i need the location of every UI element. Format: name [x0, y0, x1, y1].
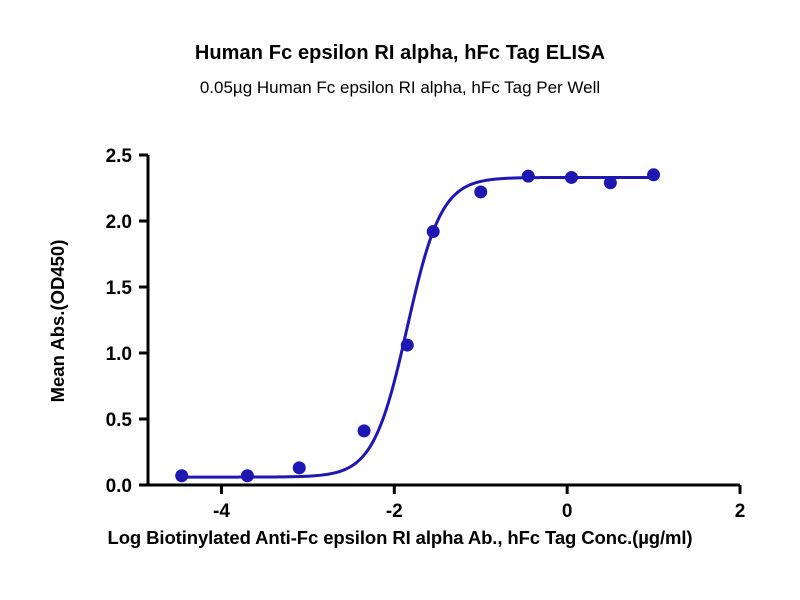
svg-text:2.0: 2.0	[106, 212, 132, 233]
svg-text:-4: -4	[213, 501, 230, 522]
svg-text:1.0: 1.0	[106, 344, 132, 365]
data-point	[647, 168, 660, 181]
data-point	[241, 469, 254, 482]
data-point	[604, 176, 617, 189]
data-point	[293, 461, 306, 474]
svg-text:-2: -2	[386, 501, 403, 522]
plot-area: -4-202 0.00.51.01.52.02.5	[0, 0, 800, 600]
data-point	[565, 171, 578, 184]
svg-text:2: 2	[735, 501, 746, 522]
svg-text:1.5: 1.5	[106, 278, 133, 299]
svg-text:0.5: 0.5	[106, 410, 133, 431]
svg-text:2.5: 2.5	[106, 146, 133, 167]
data-point	[175, 469, 188, 482]
data-point	[401, 339, 414, 352]
data-point	[522, 170, 535, 183]
data-point	[358, 424, 371, 437]
y-tick-labels: 0.00.51.01.52.02.5	[106, 146, 133, 497]
fit-curve	[182, 177, 654, 477]
axis-lines	[148, 155, 740, 485]
svg-text:0.0: 0.0	[106, 476, 132, 497]
svg-text:0: 0	[562, 501, 573, 522]
x-tick-labels: -4-202	[213, 501, 745, 522]
data-points	[175, 168, 660, 482]
data-point	[427, 225, 440, 238]
data-point	[474, 185, 487, 198]
x-axis-label: Log Biotinylated Anti-Fc epsilon RI alph…	[0, 527, 800, 549]
chart-container: Human Fc epsilon RI alpha, hFc Tag ELISA…	[0, 0, 800, 600]
y-axis-label: Mean Abs.(OD450)	[47, 161, 69, 481]
